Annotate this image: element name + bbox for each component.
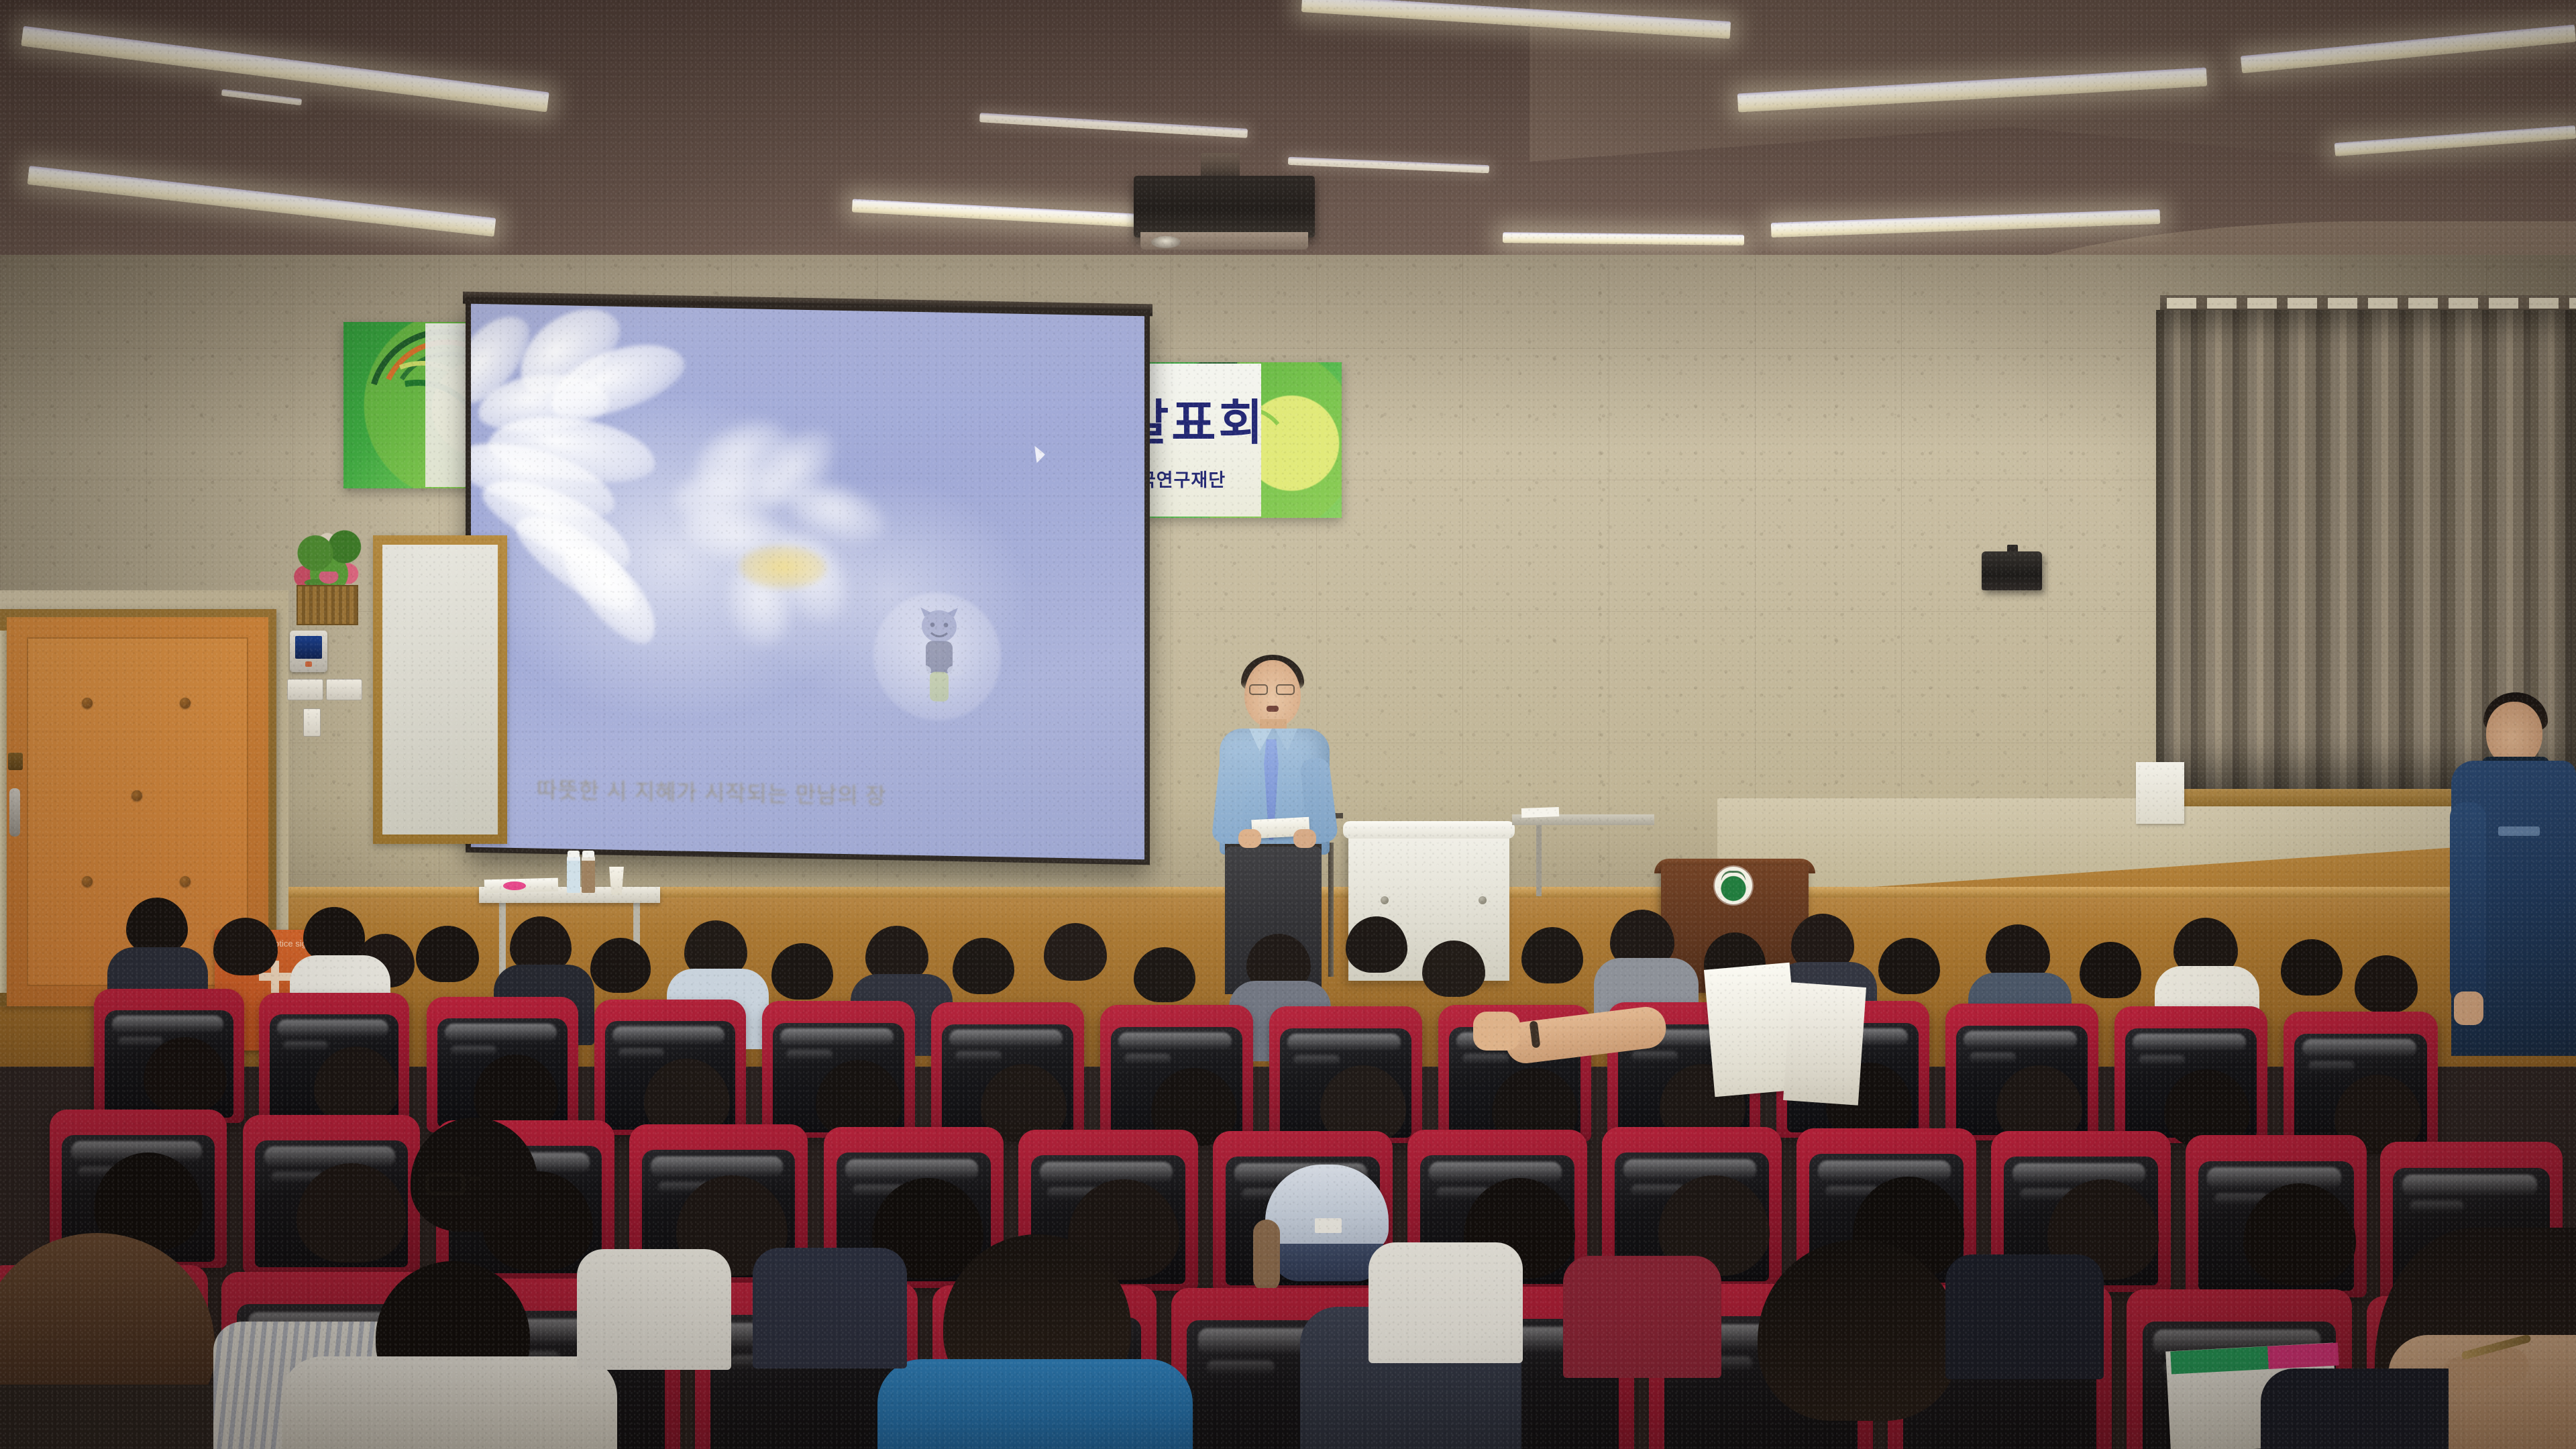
audience-hair-strand (1253, 1220, 1280, 1292)
eyeglasses-bridge-icon (470, 1177, 480, 1181)
auditorium-presentation-photo: ceiling-mounted projector 가 발표회 한국연구재단 (0, 0, 2576, 1449)
projection-screen: 따뜻한 시 지혜가 시작되는 만남의 장 (471, 304, 1144, 859)
light-switch-plate[interactable] (287, 679, 323, 700)
access-panel-indicator-icon (305, 661, 312, 667)
audience-blue-tshirt (877, 1359, 1193, 1449)
door-button-icon (82, 876, 93, 887)
seal-arc (1721, 871, 1746, 880)
raised-document-sheet (1783, 982, 1866, 1105)
wall-speaker-icon (1982, 551, 2042, 590)
presenter-hand (1238, 829, 1261, 848)
wall-outlet (303, 708, 321, 737)
standing-person-arm (2450, 802, 2486, 1004)
podium-screw-icon (1381, 896, 1389, 904)
presenter-hand (1293, 829, 1316, 848)
bottle-cap (582, 851, 594, 857)
audience-torso (1945, 1254, 2104, 1379)
cap-label-icon (1315, 1218, 1342, 1233)
microphone-stand (1328, 843, 1334, 977)
access-panel-display (295, 636, 322, 659)
mascot-character-icon (908, 606, 970, 705)
flower-basket-container (297, 585, 358, 625)
door-button-icon (131, 790, 142, 801)
screen-reflection-spot (1034, 445, 1045, 463)
water-bottle (567, 855, 580, 893)
audience-white-shirt (282, 1356, 617, 1449)
podium-screw-icon (1479, 896, 1487, 904)
door-button-icon (180, 698, 191, 708)
raised-hand (1473, 1012, 1520, 1051)
bottle-cap (568, 851, 580, 857)
audience-torso (1368, 1242, 1523, 1363)
door-button-icon (82, 698, 93, 708)
eyeglasses-icon (425, 1173, 466, 1195)
slide-caption-text: 따뜻한 시 지혜가 시작되는 만남의 장 (537, 775, 1073, 816)
wall-paper-notice (2136, 762, 2184, 824)
cap-brim (1272, 1244, 1383, 1281)
document-highlight-mark (503, 881, 526, 890)
side-table-paper (1521, 807, 1559, 818)
audience-torso (577, 1249, 731, 1370)
audience-torso (753, 1248, 907, 1368)
curtain-rail-gap-light (2167, 298, 2576, 309)
projector-lens-icon (1151, 236, 1181, 248)
audience-torso (2261, 1368, 2449, 1449)
beverage-bottle (582, 855, 595, 893)
light-switch-plate[interactable] (326, 679, 362, 700)
side-table-leg (1536, 824, 1542, 896)
audience-torso (1563, 1256, 1721, 1378)
eyeglasses-icon (1276, 684, 1295, 695)
door-lock-icon[interactable] (8, 753, 23, 770)
door-button-icon (180, 876, 191, 887)
jacket-logo-icon (2498, 826, 2540, 836)
presenter-mouth (1267, 706, 1279, 712)
podium-top (1343, 821, 1515, 839)
ceiling-projector (1134, 176, 1315, 237)
eyeglasses-icon (1249, 684, 1268, 695)
door-handle[interactable] (9, 788, 20, 837)
wall-picture-surface (382, 545, 498, 835)
standing-person-hand (2454, 991, 2483, 1025)
door-gap-light (0, 631, 7, 993)
